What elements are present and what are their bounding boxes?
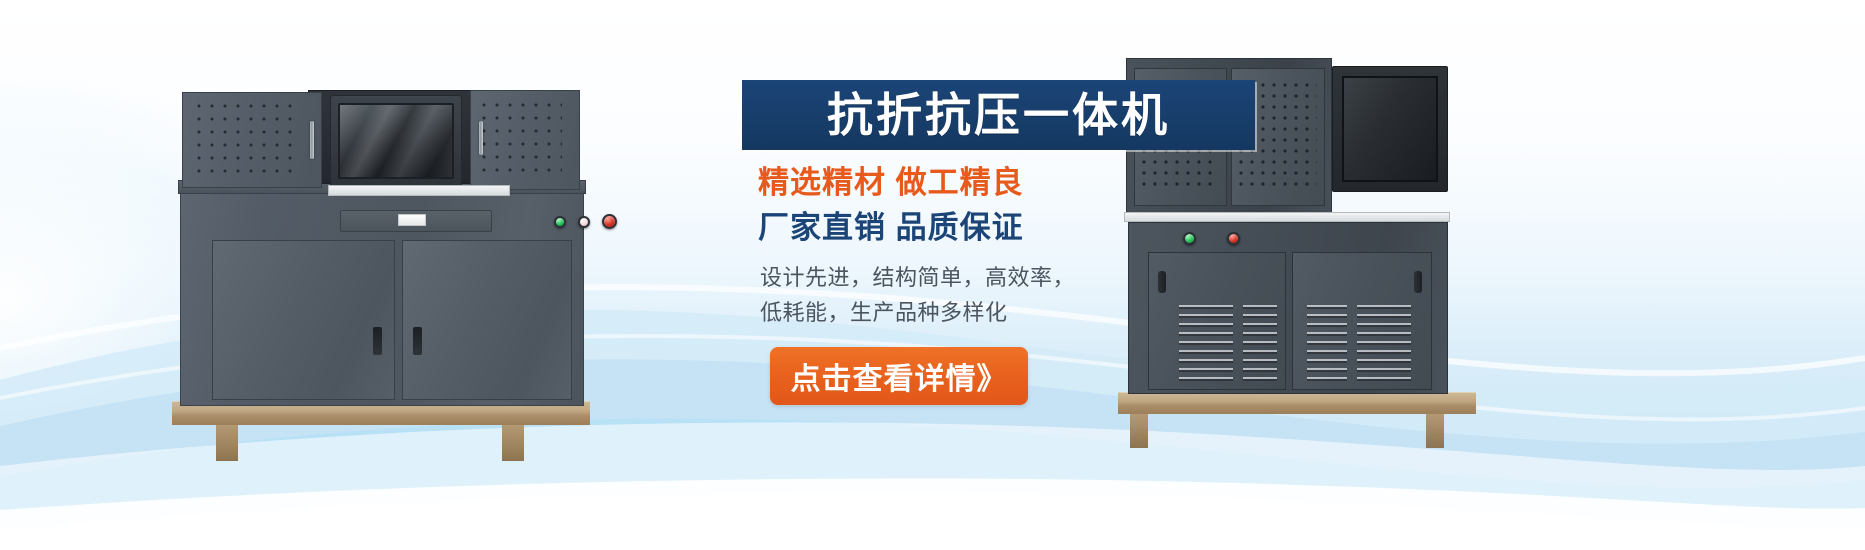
lower-cabinet-door-right	[402, 240, 572, 400]
vent-louvers-right	[1357, 305, 1411, 385]
product-image-left	[150, 40, 620, 440]
pallet-leg-right	[502, 425, 524, 461]
pallet-leg-left	[1130, 414, 1148, 448]
cabinet-handle-right	[413, 327, 422, 355]
monitor-screen	[338, 103, 454, 179]
cabinet-handle-left	[373, 327, 382, 355]
pallet-leg-right	[1426, 414, 1444, 448]
subtitle-blue: 厂家直销 品质保证	[742, 209, 1282, 248]
description-line-2: 低耗能，生产品种多样化	[760, 295, 1282, 331]
red-indicator[interactable]	[602, 214, 617, 229]
green-indicator[interactable]	[554, 216, 566, 228]
center-monitor	[330, 95, 462, 187]
subtitle-orange: 精选精材 做工精良	[742, 164, 1282, 203]
perforation-pattern	[197, 104, 299, 174]
louvered-lower-door-right	[1292, 252, 1432, 390]
perforated-right-door	[470, 90, 580, 190]
cabinet-handle-right	[1414, 271, 1422, 293]
door-handle-right	[479, 121, 483, 155]
door-handle-left	[310, 121, 314, 159]
page-title: 抗折抗压一体机	[827, 92, 1170, 138]
title-band: 抗折抗压一体机	[742, 80, 1255, 150]
view-details-button[interactable]: 点击查看详情》	[770, 347, 1028, 405]
lower-cabinet-door-left	[212, 240, 395, 400]
pallet-leg-left	[216, 425, 238, 461]
vent-louvers-right-inner	[1307, 305, 1347, 385]
perforated-left-door	[182, 92, 322, 188]
monitor-enclosure	[1332, 66, 1448, 192]
white-indicator[interactable]	[578, 216, 590, 228]
promo-text-block: 抗折抗压一体机 精选精材 做工精良 厂家直销 品质保证 设计先进，结构简单，高效…	[742, 80, 1282, 405]
promo-banner: 抗折抗压一体机 精选精材 做工精良 厂家直销 品质保证 设计先进，结构简单，高效…	[0, 0, 1865, 550]
description-line-1: 设计先进，结构简单，高效率，	[760, 260, 1282, 296]
perforation-pattern	[482, 103, 562, 176]
drawer-label	[398, 214, 426, 226]
white-trim-strip	[328, 185, 510, 196]
monitor-screen	[1342, 76, 1438, 182]
